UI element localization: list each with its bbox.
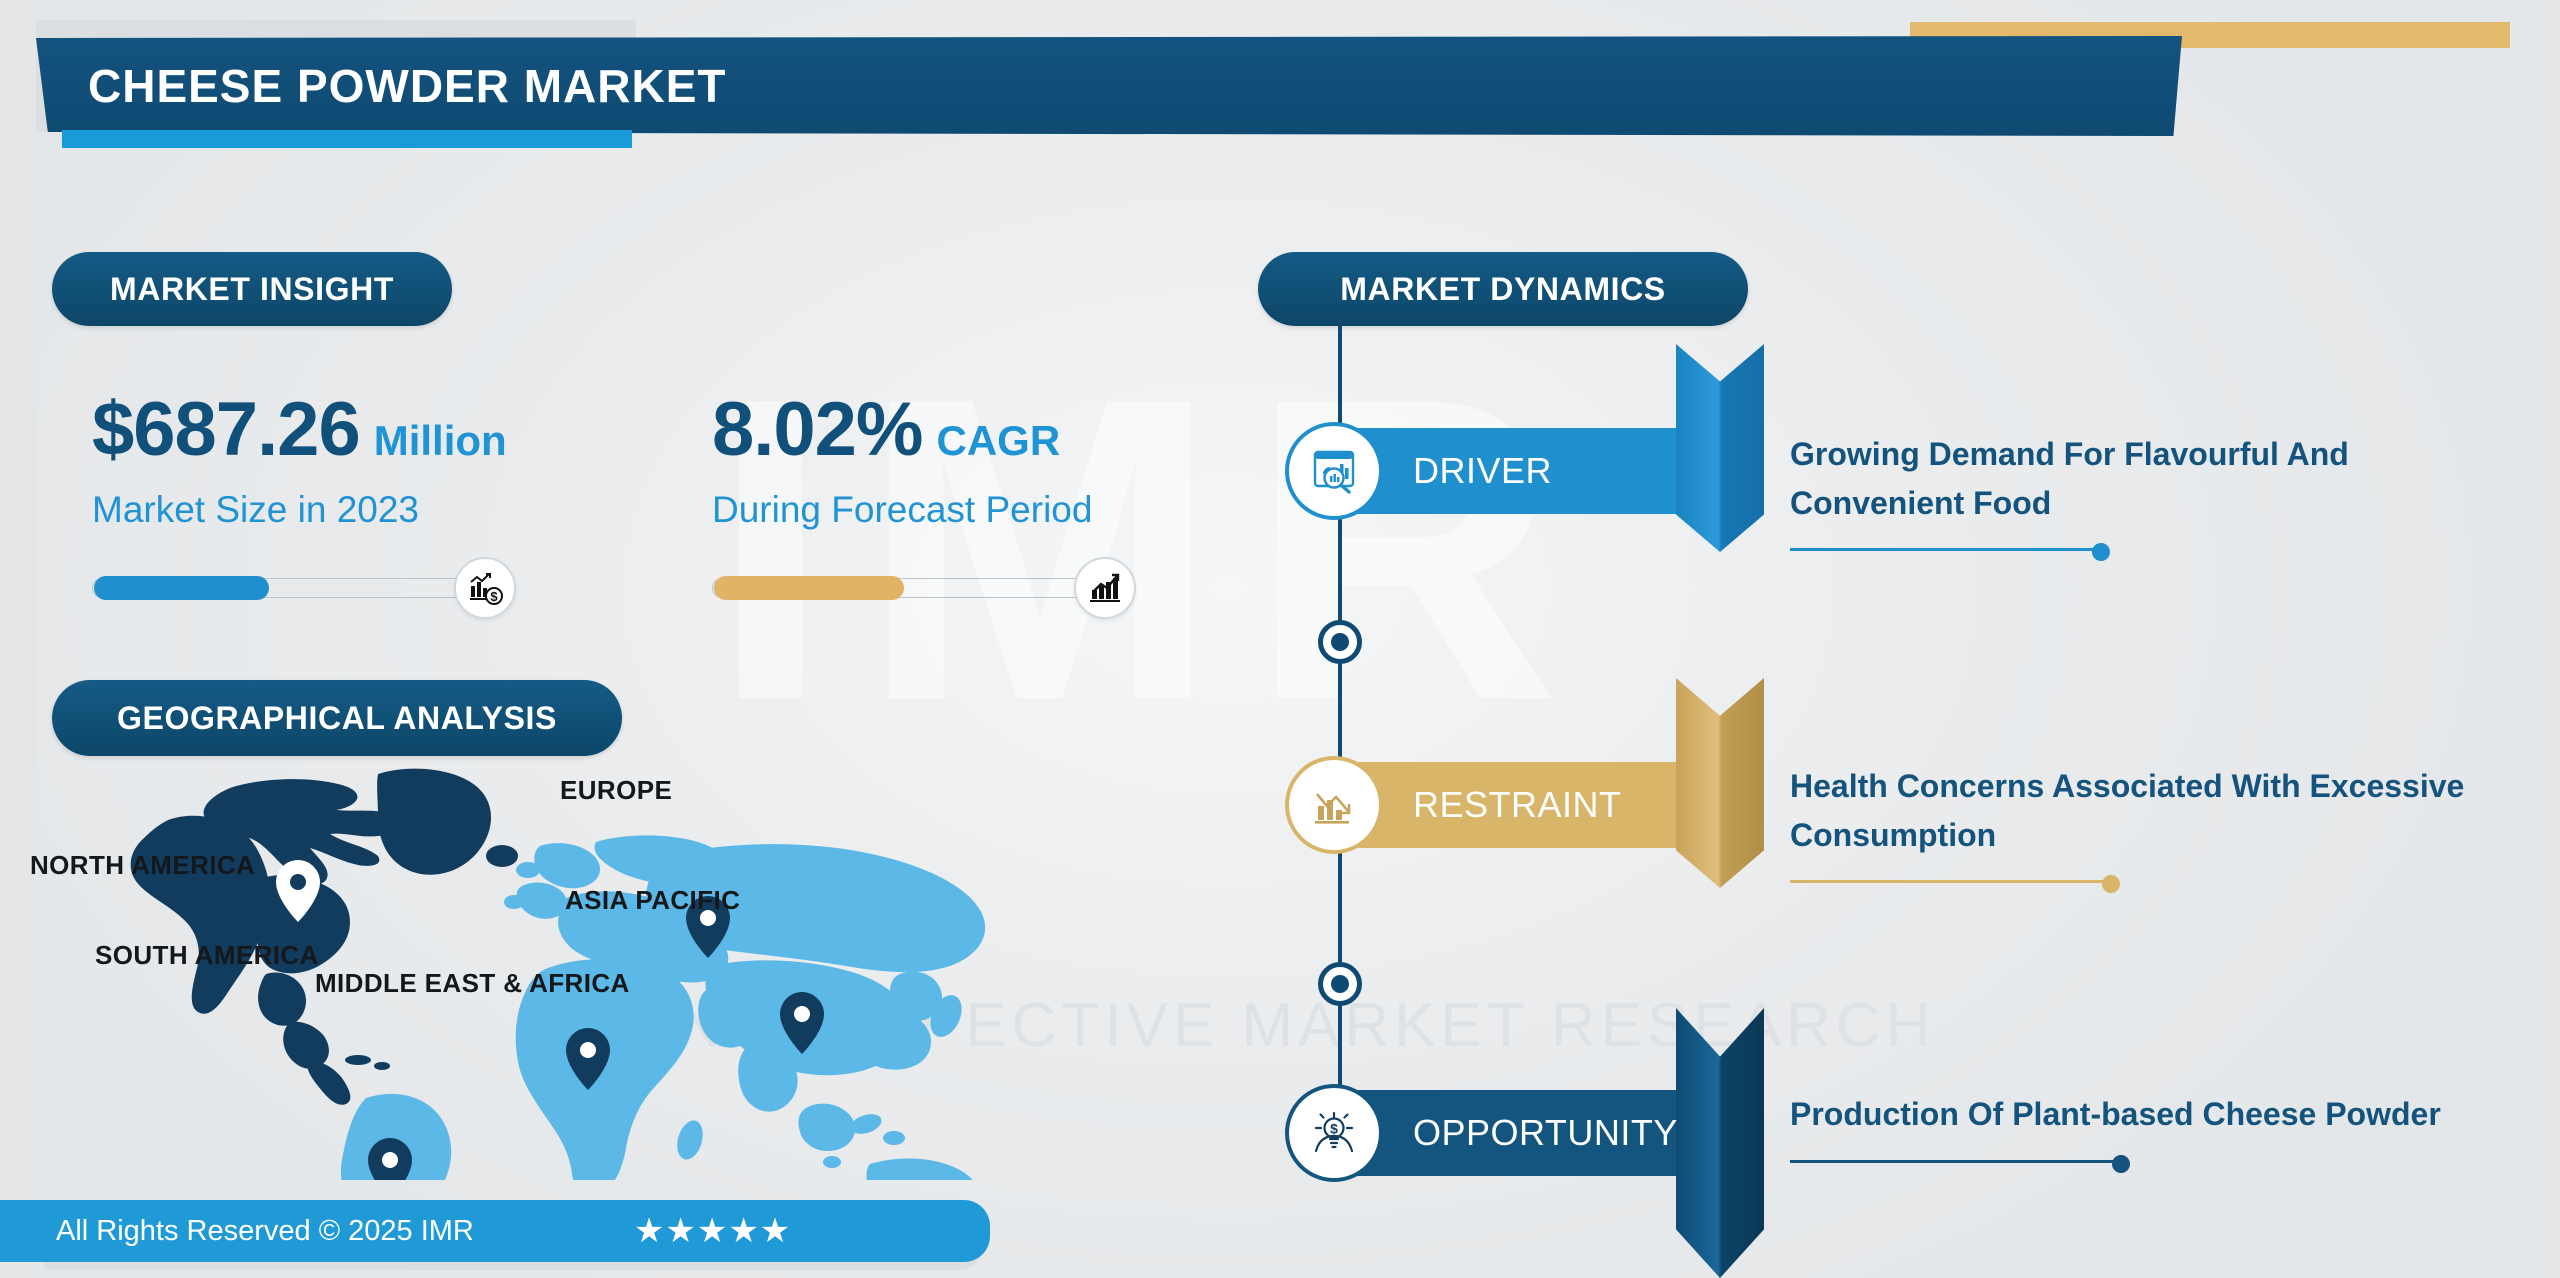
restraint-description: Health Concerns Associated With Excessiv… (1790, 762, 2510, 887)
progress-fill (94, 576, 269, 600)
metric-cagr-value: 8.02% (712, 386, 923, 473)
dynamics-item-opportunity: $ OPPORTUNITY (1285, 1090, 1745, 1176)
progress-fill (714, 576, 904, 600)
metric-market-size-progress: $ (92, 557, 512, 619)
svg-text:$: $ (490, 589, 498, 604)
timeline-node-1 (1318, 620, 1362, 664)
metric-market-size-caption: Market Size in 2023 (92, 489, 692, 531)
driver-description-text: Growing Demand For Flavourful And Conven… (1790, 430, 2510, 527)
restraint-label: RESTRAINT (1413, 762, 1622, 848)
metric-market-size-value: $687.26 (92, 386, 360, 473)
opportunity-description: Production Of Plant-based Cheese Powder (1790, 1090, 2510, 1167)
header-underline (62, 130, 632, 148)
copyright-text: All Rights Reserved © 2025 IMR (56, 1215, 474, 1248)
opportunity-description-text: Production Of Plant-based Cheese Powder (1790, 1090, 2510, 1139)
header-band: CHEESE POWDER MARKET (36, 36, 2182, 136)
map-label-asia-pacific: ASIA PACIFIC (565, 885, 740, 916)
restraint-rule (1790, 875, 2510, 887)
market-dynamics-badge-label: MARKET DYNAMICS (1340, 271, 1665, 308)
page-edge-right (2538, 0, 2560, 1278)
metric-cagr-caption: During Forecast Period (712, 489, 1272, 531)
ribbon-opportunity (1676, 1008, 1764, 1278)
page-edge-left (0, 0, 36, 1278)
driver-description: Growing Demand For Flavourful And Conven… (1790, 430, 2510, 555)
page-title: CHEESE POWDER MARKET (88, 59, 726, 113)
lightbulb-dollar-icon: $ (1285, 1084, 1383, 1182)
map-label-europe: EUROPE (560, 775, 672, 806)
market-insight-badge-label: MARKET INSIGHT (110, 271, 394, 308)
opportunity-rule (1790, 1155, 2510, 1167)
svg-text:$: $ (1330, 1121, 1338, 1137)
metric-market-size-unit: Million (374, 417, 507, 465)
bar-chart-dollar-icon: $ (454, 557, 516, 619)
metric-cagr: 8.02% CAGR During Forecast Period (712, 386, 1272, 619)
market-insight-badge: MARKET INSIGHT (52, 252, 452, 326)
driver-label: DRIVER (1413, 428, 1552, 514)
restraint-description-text: Health Concerns Associated With Excessiv… (1790, 762, 2510, 859)
metric-cagr-unit: CAGR (937, 417, 1061, 465)
ribbon-driver (1676, 344, 1764, 552)
map-label-middle-east-africa: MIDDLE EAST & AFRICA (315, 968, 630, 999)
map-region-north-america (131, 769, 518, 1105)
star-rating-icon: ★★★★★ (634, 1211, 791, 1251)
map-region-asia (698, 960, 968, 1168)
declining-bar-chart-icon (1285, 756, 1383, 854)
timeline-node-2 (1318, 962, 1362, 1006)
map-label-south-america: SOUTH AMERICA (95, 940, 319, 971)
ribbon-restraint (1676, 678, 1764, 888)
map-region-oceania (866, 1159, 1010, 1180)
footer-bar: All Rights Reserved © 2025 IMR ★★★★★ (0, 1200, 990, 1262)
geographical-analysis-badge-label: GEOGRAPHICAL ANALYSIS (117, 700, 557, 737)
growth-chart-icon (1074, 557, 1136, 619)
metric-market-size-headline: $687.26 Million (92, 386, 692, 473)
map-label-north-america: NORTH AMERICA (30, 850, 255, 881)
geographical-analysis-badge: GEOGRAPHICAL ANALYSIS (52, 680, 622, 756)
metric-market-size: $687.26 Million Market Size in 2023 $ (92, 386, 692, 619)
opportunity-label: OPPORTUNITY (1413, 1090, 1678, 1176)
driver-rule (1790, 543, 2510, 555)
metric-cagr-headline: 8.02% CAGR (712, 386, 1272, 473)
report-magnifier-icon (1285, 422, 1383, 520)
market-dynamics-badge: MARKET DYNAMICS (1258, 252, 1748, 326)
infographic-canvas: IMR INTROSPECTIVE MARKET RESEARCH CHEESE… (0, 0, 2560, 1278)
metric-cagr-progress (712, 557, 1132, 619)
